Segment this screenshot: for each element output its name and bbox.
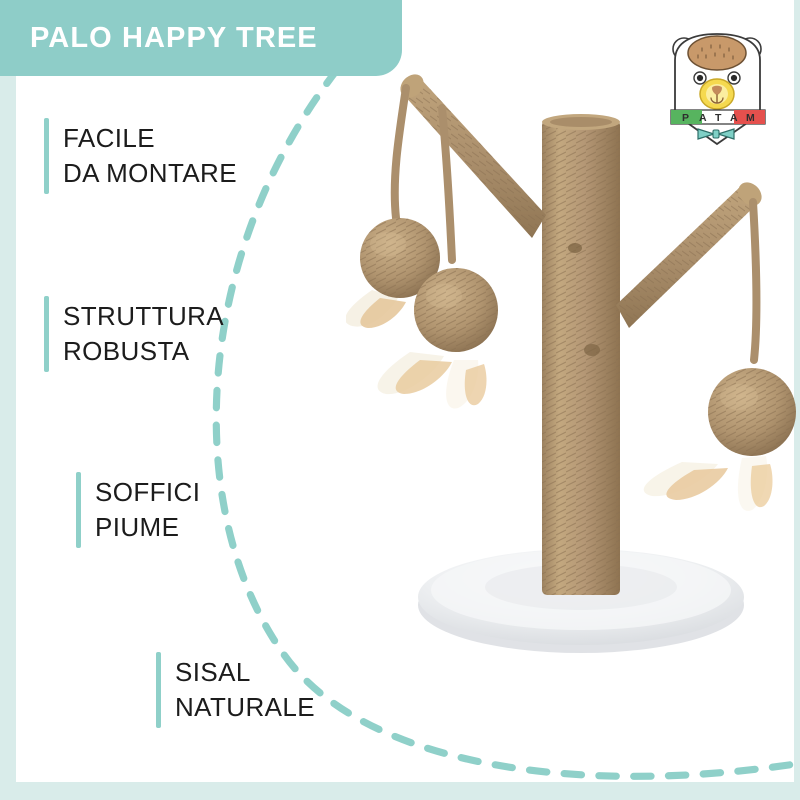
feature-line-1: FACILE [63, 121, 237, 156]
logo-letter-t: T [715, 112, 722, 124]
feature-line-2: NATURALE [175, 690, 315, 725]
frame-bottom-strip [0, 782, 800, 800]
bear-muzzle-icon [700, 79, 734, 109]
product-infographic: PALO HAPPY TREE FACILE DA MONTARE STRUTT… [0, 0, 800, 800]
feather-cluster-right [644, 456, 773, 511]
feature-accent-bar [76, 472, 81, 548]
sisal-ball-right [708, 368, 796, 456]
feature-accent-bar [44, 296, 49, 372]
feature-line-1: SISAL [175, 655, 315, 690]
feature-line-1: SOFFICI [95, 475, 200, 510]
sisal-ball-left-lower [414, 268, 498, 352]
patam-flag-banner: P A T A M [671, 110, 765, 124]
bowtie-icon [698, 129, 734, 139]
feature-line-2: ROBUSTA [63, 334, 224, 369]
right-branch [616, 178, 766, 328]
logo-letter-p: P [682, 112, 689, 124]
sisal-trunk [542, 114, 620, 595]
logo-letter-m: M [746, 112, 755, 124]
brand-logo-patam: P A T A M [662, 26, 774, 154]
feature-accent-bar [156, 652, 161, 728]
feature-text-group: SOFFICI PIUME [95, 472, 200, 548]
feature-line-2: PIUME [95, 510, 200, 545]
feature-text-group: SISAL NATURALE [175, 652, 315, 728]
feature-line-1: STRUTTURA [63, 299, 224, 334]
feature-text-group: FACILE DA MONTARE [63, 118, 237, 194]
feature-item-sisal-naturale: SISAL NATURALE [156, 652, 315, 728]
frame-left-strip [0, 0, 16, 800]
feature-text-group: STRUTTURA ROBUSTA [63, 296, 224, 372]
feature-accent-bar [44, 118, 49, 194]
left-branch [396, 70, 546, 238]
header-banner: PALO HAPPY TREE [0, 0, 402, 76]
logo-letter-a2: A [730, 112, 738, 124]
logo-letter-a1: A [699, 112, 707, 124]
page-title: PALO HAPPY TREE [30, 22, 318, 55]
feature-line-2: DA MONTARE [63, 156, 237, 191]
feature-item-struttura-robusta: STRUTTURA ROBUSTA [44, 296, 224, 372]
feature-item-soffici-piume: SOFFICI PIUME [76, 472, 200, 548]
bear-fur-cap-icon [688, 36, 746, 70]
feature-item-facile-da-montare: FACILE DA MONTARE [44, 118, 237, 194]
